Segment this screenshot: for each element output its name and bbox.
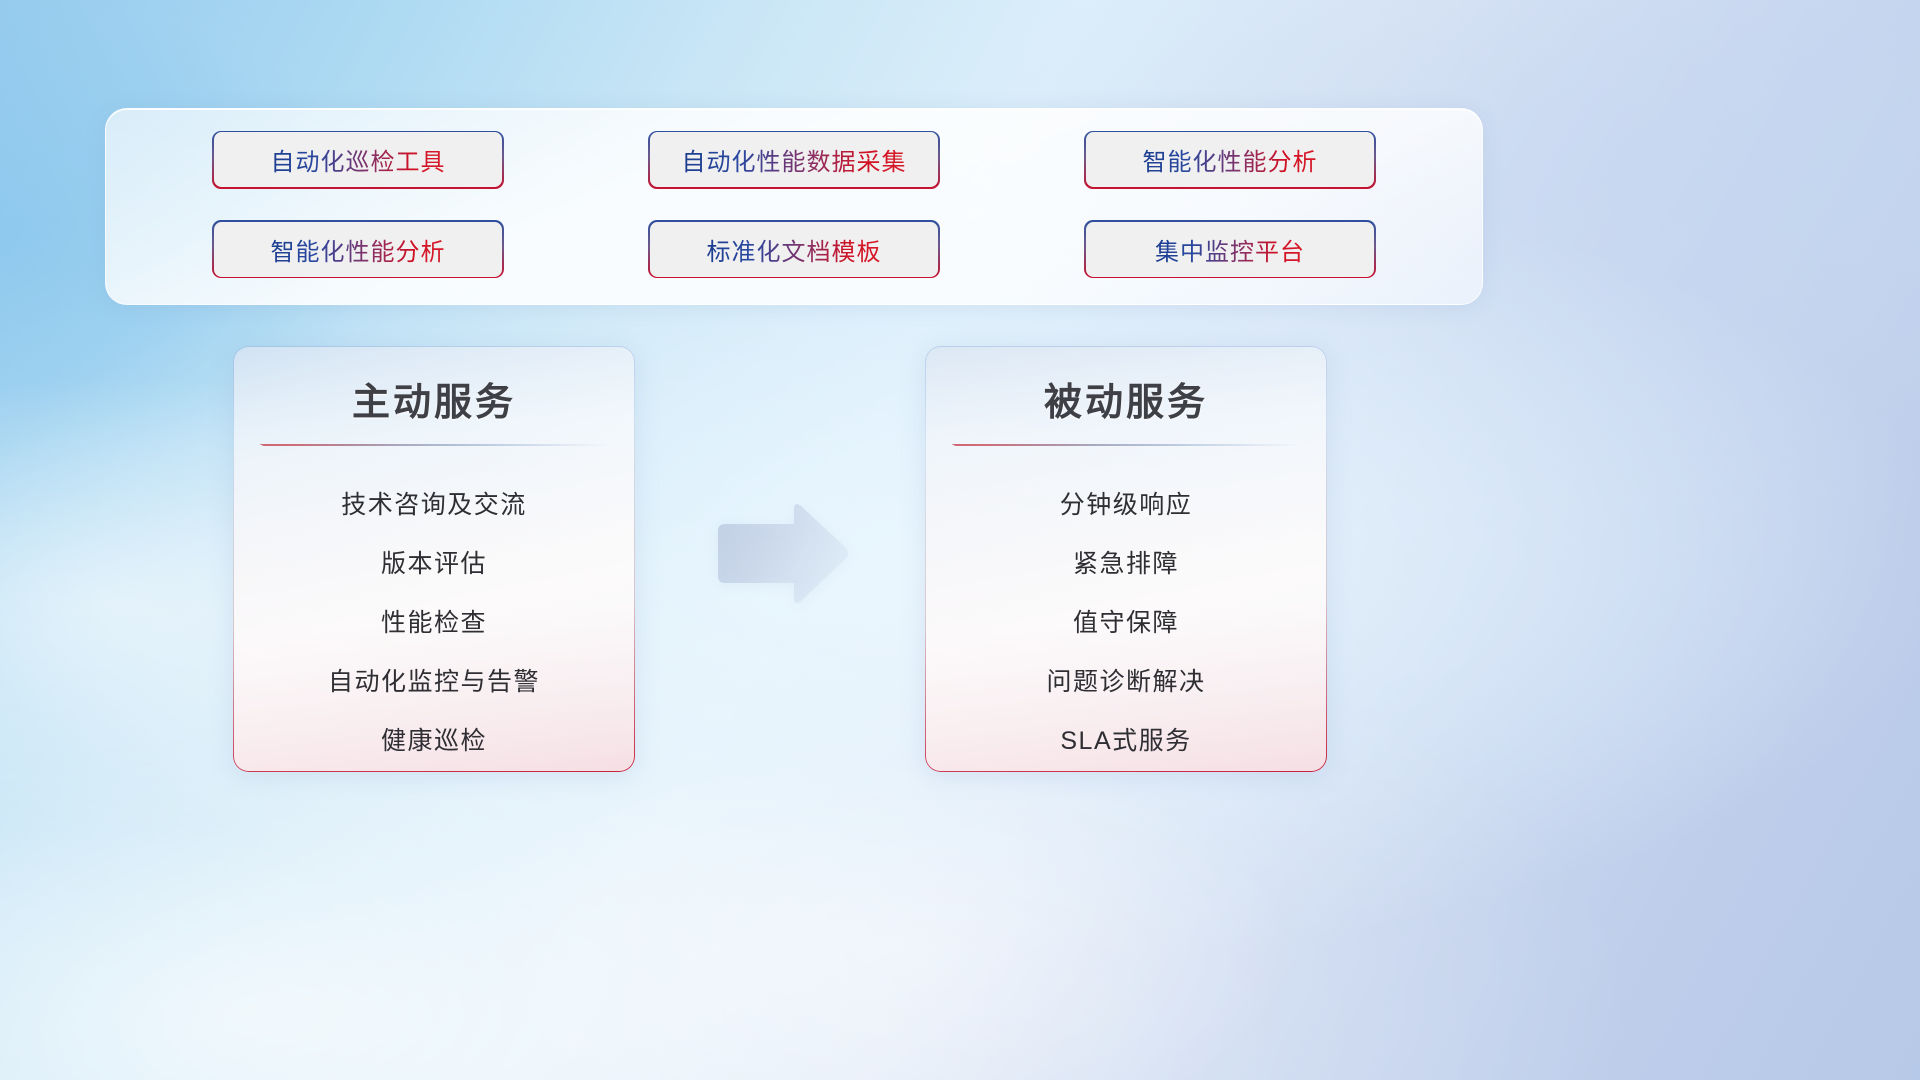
service-item: 问题诊断解决 [1046, 653, 1205, 712]
capability-pill-inner: 集中监控平台 [1086, 222, 1375, 277]
service-item: 技术咨询及交流 [341, 476, 527, 535]
capability-pill-inner: 智能化性能分析 [214, 222, 503, 277]
service-item: 值守保障 [1073, 594, 1179, 653]
capability-pill-label: 集中监控平台 [1155, 232, 1305, 267]
capability-pill[interactable]: 集中监控平台 [1084, 220, 1376, 278]
service-card-reactive[interactable]: 被动服务 分钟级响应 紧急排障 值守保障 问题诊断解决 SLA式服务 [925, 346, 1327, 772]
capability-pill-inner: 自动化巡检工具 [214, 132, 503, 187]
service-item: SLA式服务 [1060, 712, 1191, 771]
capability-pill-label: 自动化性能数据采集 [682, 142, 907, 177]
capability-pill-inner: 智能化性能分析 [1086, 132, 1375, 187]
service-card-proactive[interactable]: 主动服务 技术咨询及交流 版本评估 性能检查 自动化监控与告警 健康巡检 [233, 346, 635, 772]
capability-pill-inner: 标准化文档模板 [650, 222, 939, 277]
service-card-title: 被动服务 [1044, 371, 1208, 426]
arrow-right-icon [712, 500, 852, 610]
title-underline-rule [258, 444, 610, 445]
capability-pill-label: 自动化巡检工具 [271, 142, 446, 177]
capability-pill-label: 智能化性能分析 [271, 232, 446, 267]
service-item: 自动化监控与告警 [328, 653, 540, 712]
service-item: 版本评估 [381, 535, 487, 594]
capability-pill[interactable]: 自动化性能数据采集 [648, 131, 940, 189]
capability-pill-label: 智能化性能分析 [1143, 142, 1318, 177]
service-item: 健康巡检 [381, 712, 487, 771]
capability-pill[interactable]: 智能化性能分析 [212, 220, 504, 278]
capability-pill[interactable]: 自动化巡检工具 [212, 131, 504, 189]
service-card-body: 被动服务 分钟级响应 紧急排障 值守保障 问题诊断解决 SLA式服务 [926, 347, 1325, 770]
title-underline-rule [950, 444, 1302, 445]
capability-pill-label: 标准化文档模板 [707, 232, 882, 267]
service-item-list: 分钟级响应 紧急排障 值守保障 问题诊断解决 SLA式服务 [926, 476, 1325, 771]
capability-panel: 自动化巡检工具 自动化性能数据采集 智能化性能分析 智能化性能分析 标准化文档模… [105, 108, 1483, 305]
service-item: 性能检查 [381, 594, 487, 653]
service-card-title: 主动服务 [352, 371, 516, 426]
capability-pill[interactable]: 智能化性能分析 [1084, 131, 1376, 189]
service-item-list: 技术咨询及交流 版本评估 性能检查 自动化监控与告警 健康巡检 [234, 476, 633, 771]
service-item: 分钟级响应 [1060, 476, 1193, 535]
service-item: 紧急排障 [1073, 535, 1179, 594]
capability-pill[interactable]: 标准化文档模板 [648, 220, 940, 278]
service-card-body: 主动服务 技术咨询及交流 版本评估 性能检查 自动化监控与告警 健康巡检 [234, 347, 633, 770]
capability-pill-inner: 自动化性能数据采集 [650, 132, 939, 187]
